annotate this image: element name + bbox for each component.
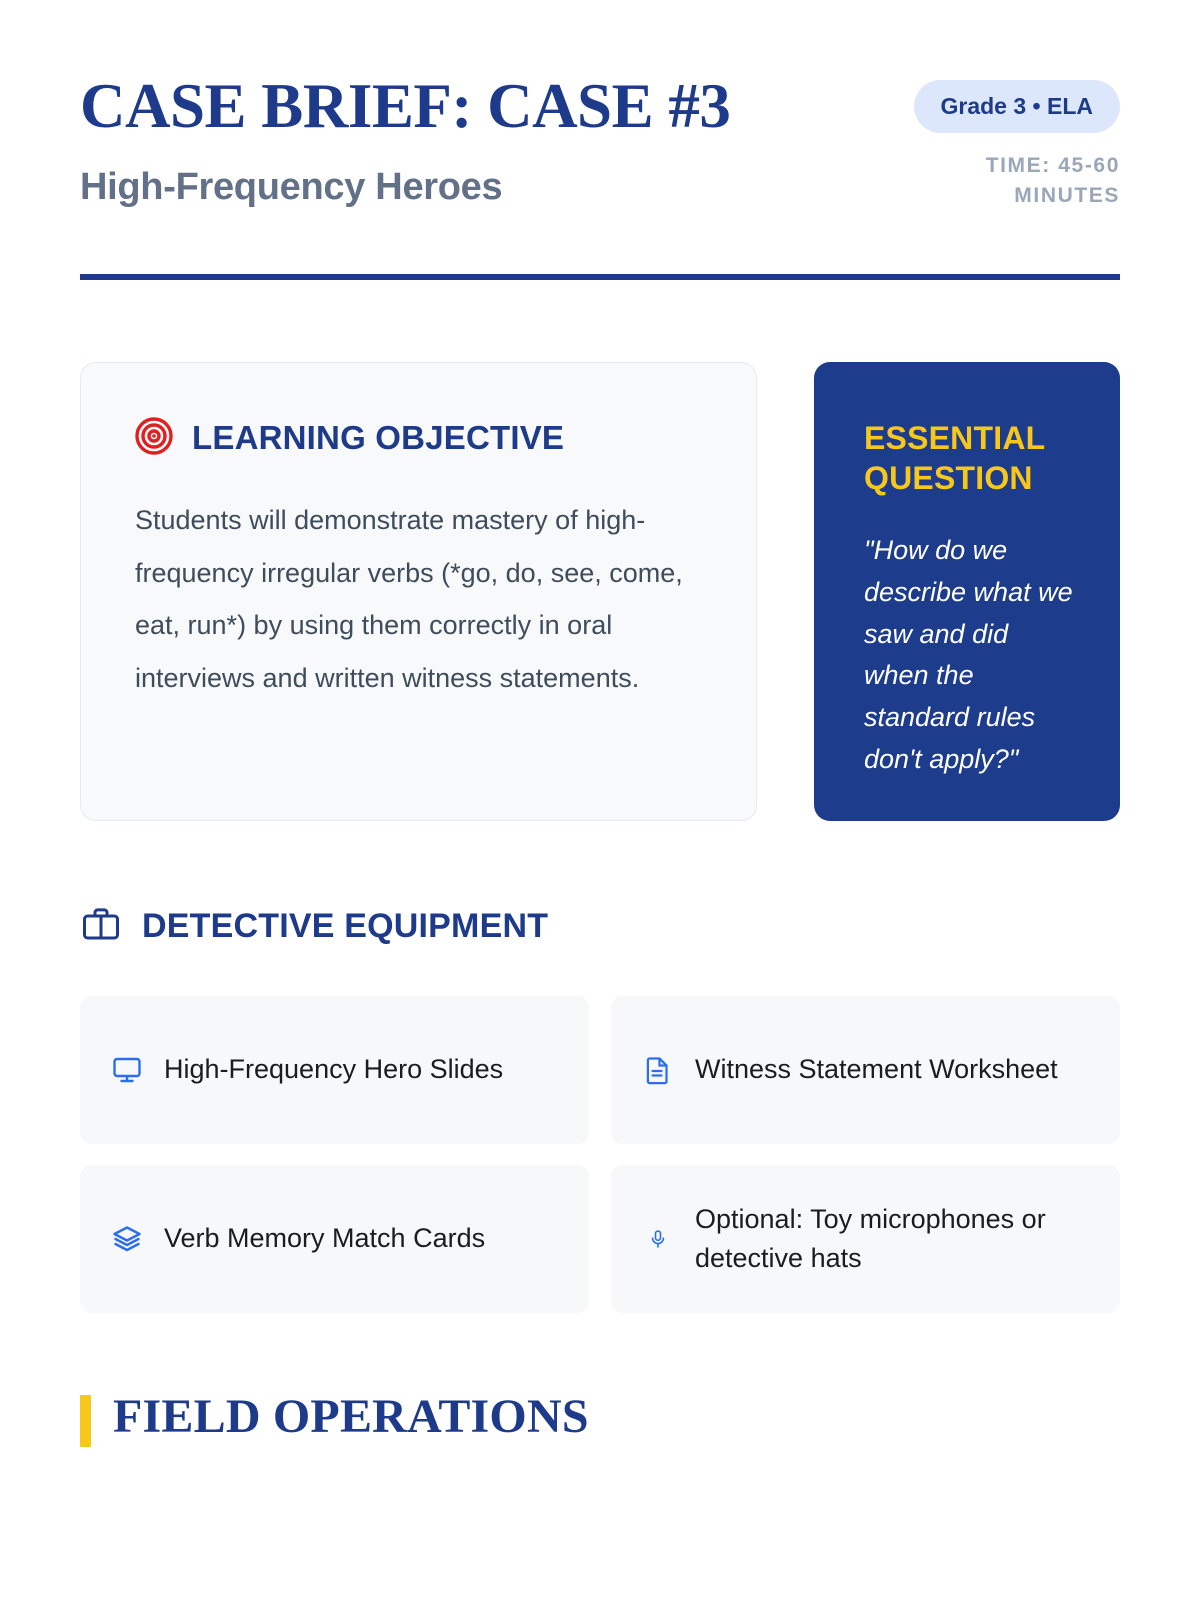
page-title: CASE BRIEF: CASE #3 (80, 72, 780, 140)
equipment-item-label: Optional: Toy microphones or detective h… (695, 1200, 1088, 1278)
document-icon (641, 1055, 675, 1085)
grade-badge: Grade 3 • ELA (914, 80, 1121, 133)
page-header: CASE BRIEF: CASE #3 High-Frequency Heroe… (80, 0, 1120, 212)
equipment-item-label: Verb Memory Match Cards (164, 1219, 485, 1258)
layers-icon (110, 1224, 144, 1254)
learning-objective-header: LEARNING OBJECTIVE (135, 417, 706, 460)
case-brief-page: CASE BRIEF: CASE #3 High-Frequency Heroe… (0, 0, 1200, 1600)
learning-objective-card: LEARNING OBJECTIVE Students will demonst… (80, 362, 757, 821)
field-operations-title: FIELD OPERATIONS (113, 1391, 589, 1444)
equipment-grid: High-Frequency Hero Slides Witness State… (80, 996, 1120, 1313)
header-left: CASE BRIEF: CASE #3 High-Frequency Heroe… (80, 72, 886, 209)
field-operations-section: FIELD OPERATIONS (80, 1391, 1120, 1447)
header-right: Grade 3 • ELA TIME: 45-60 MINUTES (910, 72, 1120, 212)
equipment-item-match-cards: Verb Memory Match Cards (80, 1165, 589, 1313)
learning-objective-title: LEARNING OBJECTIVE (192, 419, 564, 457)
essential-question-title: ESSENTIAL QUESTION (864, 418, 1078, 498)
page-subtitle: High-Frequency Heroes (80, 166, 886, 209)
equipment-item-label: Witness Statement Worksheet (695, 1050, 1058, 1089)
briefcase-icon (80, 903, 122, 950)
time-label: TIME: 45-60 MINUTES (910, 151, 1120, 212)
yellow-accent-bar (80, 1395, 91, 1447)
microphone-icon (641, 1229, 675, 1249)
header-divider (80, 274, 1120, 280)
equipment-item-label: High-Frequency Hero Slides (164, 1050, 503, 1089)
detective-equipment-header: DETECTIVE EQUIPMENT (80, 903, 1120, 950)
essential-question-text: "How do we describe what we saw and did … (864, 530, 1078, 781)
monitor-icon (110, 1055, 144, 1085)
equipment-item-slides: High-Frequency Hero Slides (80, 996, 589, 1144)
learning-objective-text: Students will demonstrate mastery of hig… (135, 494, 706, 705)
detective-equipment-section: DETECTIVE EQUIPMENT High-Frequency Hero … (80, 903, 1120, 1313)
equipment-item-worksheet: Witness Statement Worksheet (611, 996, 1120, 1144)
equipment-item-optional-props: Optional: Toy microphones or detective h… (611, 1165, 1120, 1313)
detective-equipment-title: DETECTIVE EQUIPMENT (142, 907, 548, 946)
top-panels: LEARNING OBJECTIVE Students will demonst… (80, 362, 1120, 821)
essential-question-panel: ESSENTIAL QUESTION "How do we describe w… (814, 362, 1120, 821)
target-icon (135, 417, 173, 460)
